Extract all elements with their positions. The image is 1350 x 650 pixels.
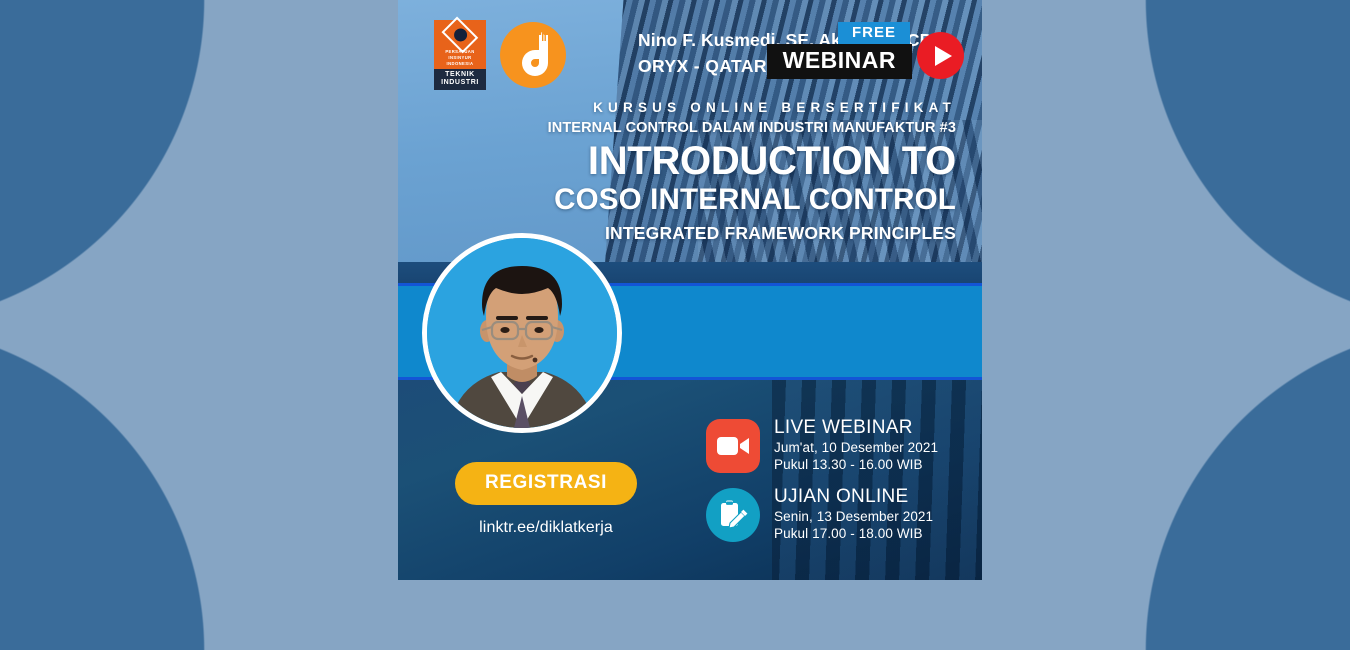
diklatkerja-logo bbox=[500, 22, 566, 88]
schedule-date: Jum'at, 10 Desember 2021 bbox=[774, 440, 938, 457]
title-main-line-1: INTRODUCTION TO bbox=[548, 141, 956, 181]
schedule-title: LIVE WEBINAR bbox=[774, 418, 938, 438]
schedule-item-text: UJIAN ONLINE Senin, 13 Desember 2021 Puk… bbox=[774, 487, 933, 542]
pii-teknik-industri-logo: PERSATUAN INSINYUR INDONESIA TEKNIK INDU… bbox=[434, 20, 486, 90]
pii-logo-band-line-2: INDUSTRI bbox=[434, 79, 486, 87]
badge-free-label: FREE bbox=[838, 22, 910, 44]
schedule-date: Senin, 13 Desember 2021 bbox=[774, 509, 933, 526]
logo-row: PERSATUAN INSINYUR INDONESIA TEKNIK INDU… bbox=[434, 20, 566, 90]
badge-webinar-label: WEBINAR bbox=[767, 44, 912, 79]
page-background: PERSATUAN INSINYUR INDONESIA TEKNIK INDU… bbox=[0, 0, 1350, 650]
registration-link[interactable]: linktr.ee/diklatkerja bbox=[446, 519, 646, 537]
title-eyebrow: KURSUS ONLINE BERSERTIFIKAT bbox=[548, 100, 956, 115]
schedule-item-live-webinar: LIVE WEBINAR Jum'at, 10 Desember 2021 Pu… bbox=[706, 418, 938, 473]
play-triangle-icon bbox=[917, 32, 964, 79]
pii-logo-line-2: INSINYUR bbox=[445, 55, 474, 61]
schedule-title: UJIAN ONLINE bbox=[774, 487, 933, 507]
clipboard-pencil-icon bbox=[706, 488, 760, 542]
schedule-item-text: LIVE WEBINAR Jum'at, 10 Desember 2021 Pu… bbox=[774, 418, 938, 473]
registration-block: REGISTRASI linktr.ee/diklatkerja bbox=[446, 462, 646, 537]
schedule-time: Pukul 13.30 - 16.00 WIB bbox=[774, 457, 938, 474]
speaker-portrait bbox=[422, 233, 622, 433]
pii-diamond-icon bbox=[442, 17, 479, 54]
poster-title-block: KURSUS ONLINE BERSERTIFIKAT INTERNAL CON… bbox=[548, 100, 956, 244]
title-main-line-2: COSO INTERNAL CONTROL bbox=[548, 183, 956, 218]
registration-button[interactable]: REGISTRASI bbox=[455, 462, 637, 505]
pii-logo-subtitle: PERSATUAN INSINYUR INDONESIA bbox=[445, 49, 474, 67]
speaker-portrait-frame bbox=[422, 233, 622, 433]
webinar-poster: PERSATUAN INSINYUR INDONESIA TEKNIK INDU… bbox=[398, 0, 982, 580]
schedule-time: Pukul 17.00 - 18.00 WIB bbox=[774, 526, 933, 543]
title-series: INTERNAL CONTROL DALAM INDUSTRI MANUFAKT… bbox=[548, 120, 956, 136]
video-camera-icon bbox=[706, 419, 760, 473]
pii-logo-band-line-1: TEKNIK bbox=[434, 71, 486, 79]
schedule-item-ujian-online: UJIAN ONLINE Senin, 13 Desember 2021 Puk… bbox=[706, 487, 938, 542]
schedule-list: LIVE WEBINAR Jum'at, 10 Desember 2021 Pu… bbox=[706, 418, 938, 543]
pii-logo-band: TEKNIK INDUSTRI bbox=[434, 69, 486, 90]
pii-logo-line-3: INDONESIA bbox=[445, 61, 474, 67]
